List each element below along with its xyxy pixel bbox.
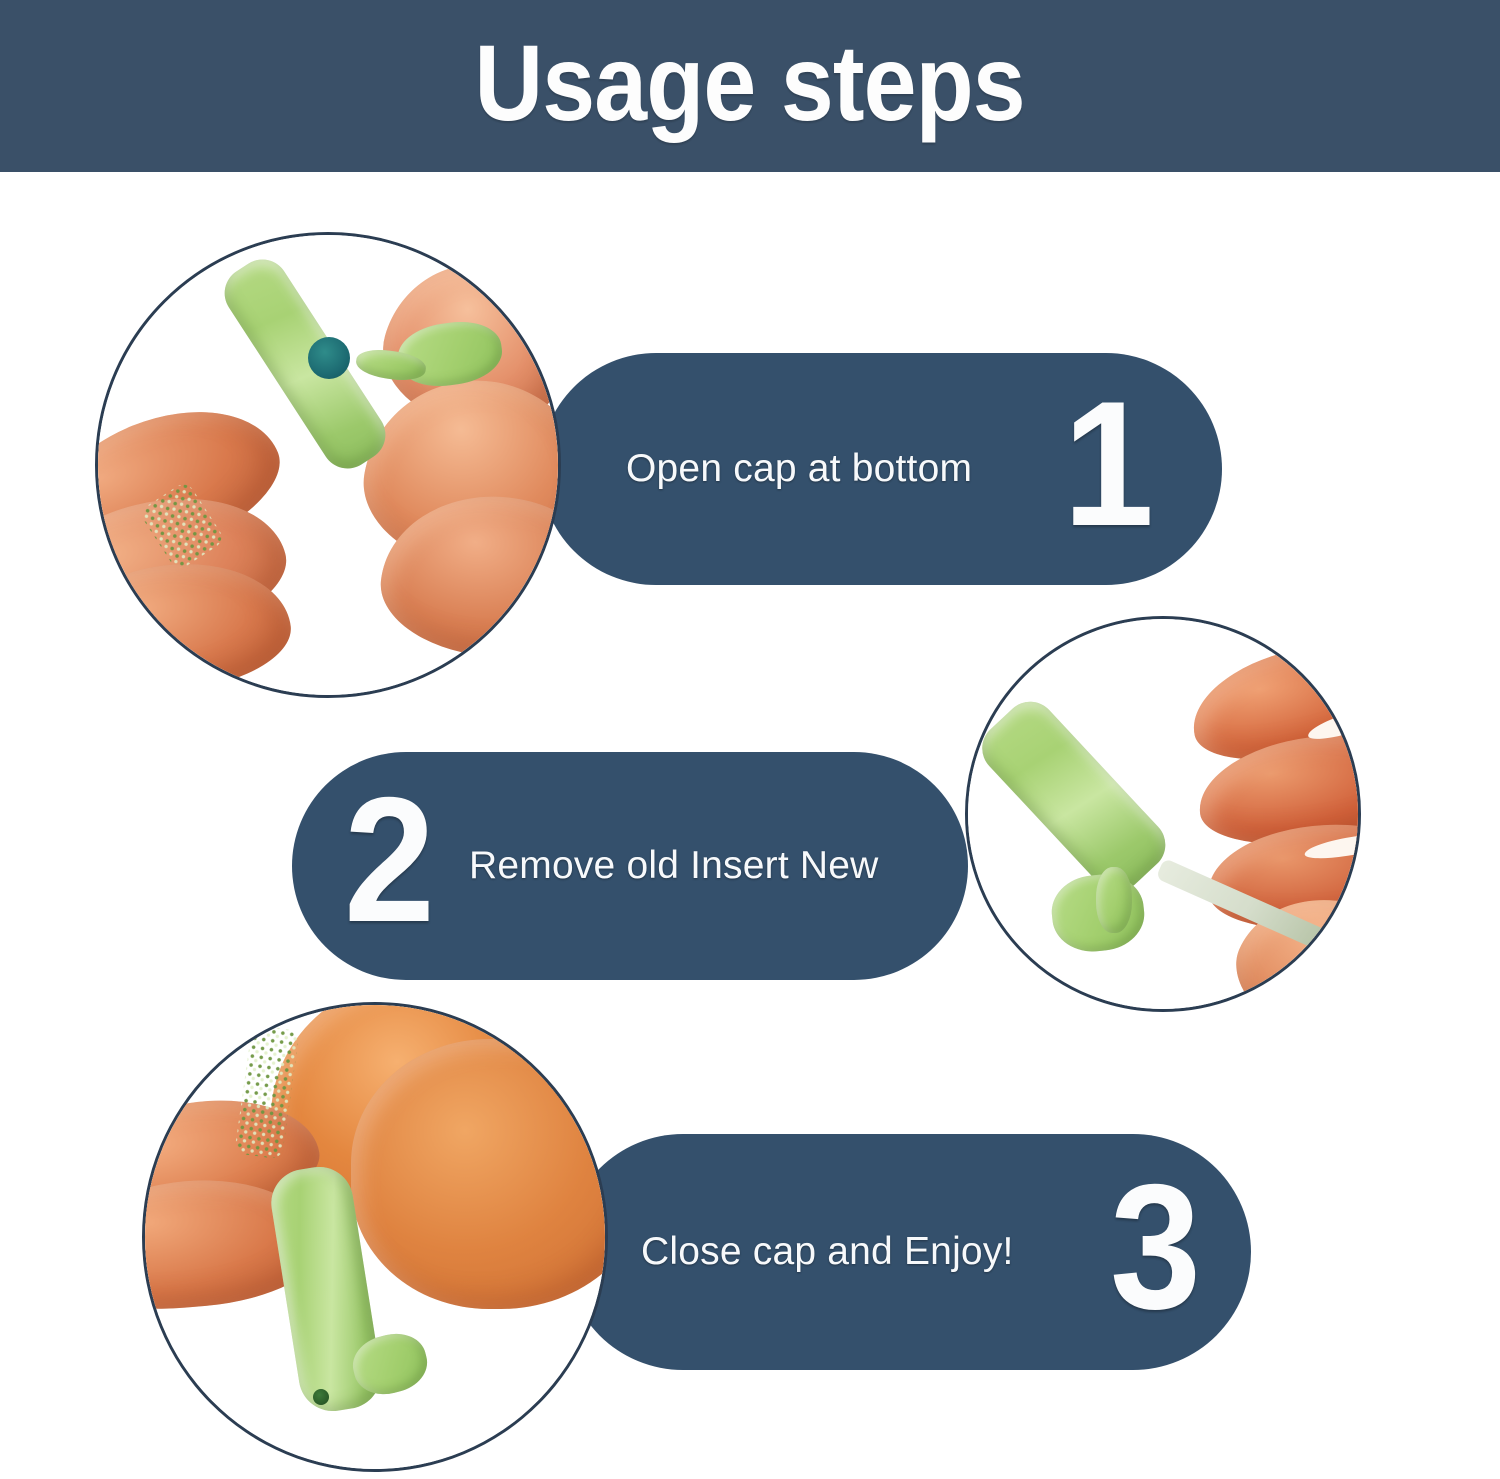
- step-1-number: 1: [1063, 375, 1154, 553]
- step-3-number: 3: [1110, 1158, 1201, 1336]
- palm-region: [351, 1039, 605, 1309]
- product-vent-hole: [308, 337, 350, 379]
- step-2-label: Remove old Insert New: [469, 844, 879, 888]
- step-1-photo-scene: [98, 235, 558, 695]
- step-2-banner: 2 Remove old Insert New: [292, 752, 968, 980]
- step-1-label: Open cap at bottom: [626, 447, 972, 491]
- step-3-photo-scene: [145, 1005, 605, 1469]
- product-cap-stem: [1096, 867, 1132, 933]
- step-1-photo: [95, 232, 561, 698]
- product-vent-hole: [313, 1389, 329, 1405]
- step-1-banner: Open cap at bottom 1: [540, 353, 1222, 585]
- product-tube: [971, 691, 1176, 902]
- step-3-label: Close cap and Enjoy!: [641, 1230, 1014, 1274]
- step-2-photo-scene: [968, 619, 1358, 1009]
- page-title: Usage steps: [475, 29, 1025, 137]
- usage-steps-infographic: Usage steps Open cap at bottom 1 2 Remov…: [0, 0, 1500, 1479]
- step-2-number: 2: [344, 771, 435, 949]
- step-2-photo: [965, 616, 1361, 1012]
- step-3-photo: [142, 1002, 608, 1472]
- header-band: Usage steps: [0, 0, 1500, 172]
- step-3-banner: Close cap and Enjoy! 3: [565, 1134, 1251, 1370]
